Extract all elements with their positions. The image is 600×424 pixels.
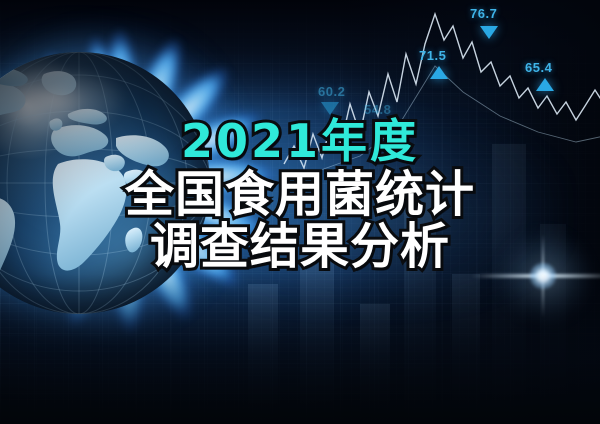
title-line-main: 全国食用菌统计: [0, 170, 600, 221]
chart-label-60-2: 60.2: [318, 84, 345, 99]
chart-label-65-4: 65.4: [525, 60, 552, 75]
chart-marker-76-7-down-triangle: [480, 26, 498, 39]
chart-marker-65-4-up-triangle: [536, 78, 554, 91]
poster-banner: 60.2 54.8 71.5 76.7 65.4: [0, 0, 600, 424]
poster-title: 2021年度 全国食用菌统计 调查结果分析: [0, 118, 600, 273]
chart-marker-71-5-up-triangle: [430, 66, 448, 79]
chart-label-71-5: 71.5: [419, 48, 446, 63]
title-line-year: 2021年度: [0, 118, 600, 166]
chart-label-76-7: 76.7: [470, 6, 497, 21]
title-line-sub: 调查结果分析: [0, 222, 600, 273]
